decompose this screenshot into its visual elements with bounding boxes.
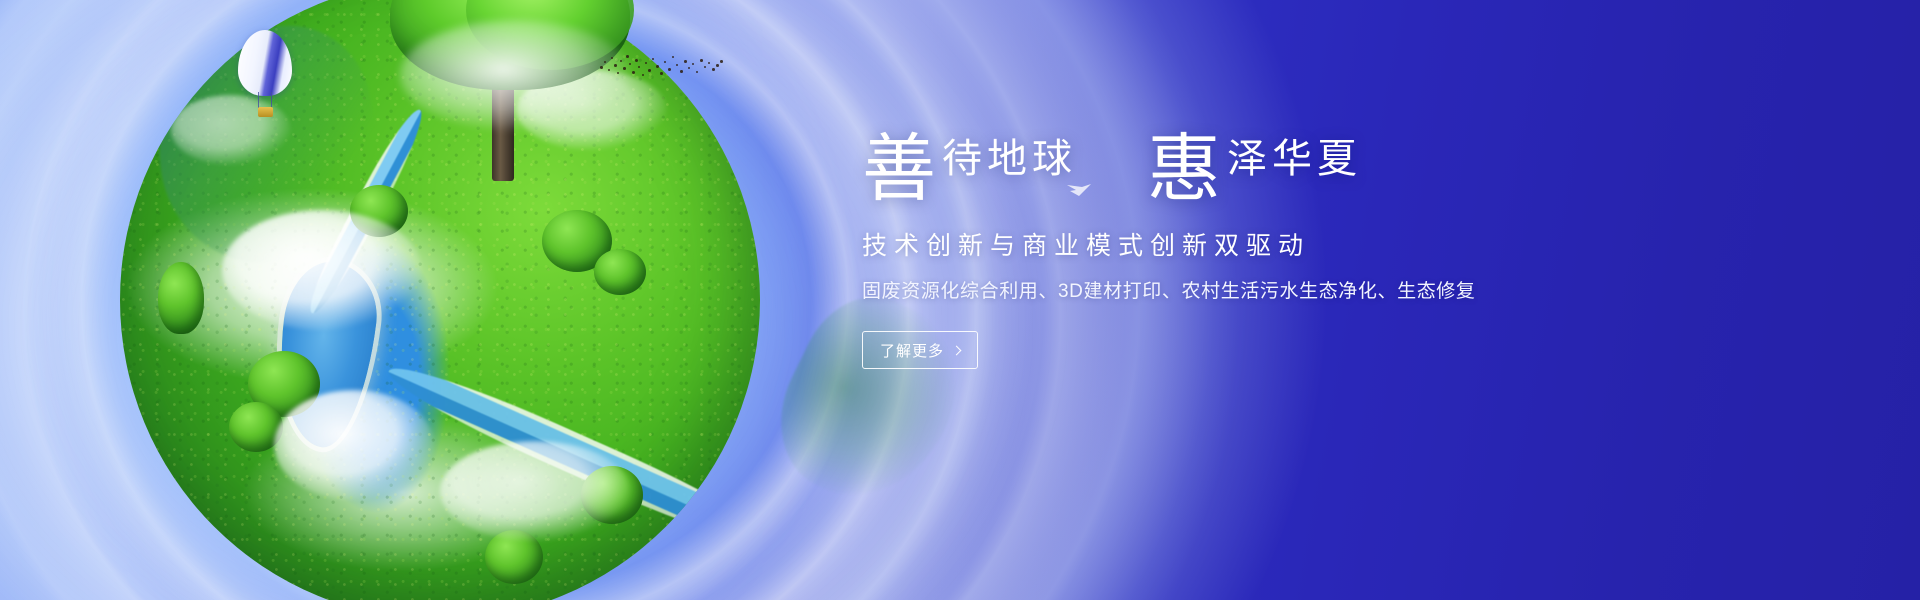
bird-dot (712, 68, 715, 71)
planet-cloud (222, 210, 422, 330)
bird-dot (632, 71, 635, 74)
tree-blob (594, 249, 646, 295)
bird-dot (696, 71, 698, 73)
bird-dot (642, 74, 644, 76)
bird-dot (684, 60, 687, 63)
bird-dot (608, 69, 610, 71)
bird-dot (688, 67, 690, 69)
bird-dot (672, 56, 674, 58)
bird-dot (660, 72, 663, 75)
balloon-basket (258, 107, 273, 117)
learn-more-button[interactable]: 了解更多 (862, 331, 978, 369)
bird-dot (676, 64, 678, 66)
bird-dot (620, 60, 622, 62)
headline-phrase-1: 待地球 (942, 139, 1077, 179)
headline-char-1: 善 (862, 132, 936, 206)
bird-dot (704, 66, 706, 68)
chevron-right-icon (952, 345, 962, 355)
bird-dot (700, 59, 703, 62)
bird-dot (623, 67, 626, 70)
bird-dot (617, 72, 619, 74)
bird-dot (716, 64, 719, 67)
bird-dot (648, 69, 651, 72)
bird-dot (692, 63, 694, 65)
bird-dot (668, 68, 671, 71)
bird-dot (614, 64, 617, 67)
page-title: 善待地球惠泽华夏 (862, 126, 1662, 212)
balloon-lines (258, 92, 272, 108)
bird-dot (680, 70, 683, 73)
bird-dot (635, 59, 638, 62)
bird-dot (645, 62, 647, 64)
bird-dot (611, 57, 613, 59)
hot-air-balloon-icon (238, 30, 292, 122)
bird-flock-icon (598, 52, 728, 88)
bird-dot (720, 60, 723, 63)
bird-dot (652, 58, 654, 60)
top-tree-illustration (380, 0, 640, 180)
bird-dot (604, 61, 606, 63)
tree-blob (158, 262, 204, 334)
planet-cloud (440, 441, 630, 541)
bird-dot (638, 66, 640, 68)
bird-dot (600, 66, 603, 69)
banner-description: 固废资源化综合利用、3D建材打印、农村生活污水生态净化、生态修复 (862, 279, 1662, 305)
bird-dot (629, 63, 631, 65)
headline-char-2: 惠 (1147, 132, 1221, 206)
headline-phrase-2: 泽华夏 (1227, 139, 1362, 179)
planet-cloud (274, 390, 434, 500)
banner-copy-block: 善待地球惠泽华夏 技术创新与商业模式创新双驱动 固废资源化综合利用、3D建材打印… (862, 126, 1662, 369)
bird-dot (664, 61, 666, 63)
bird-dot (708, 62, 710, 64)
learn-more-label: 了解更多 (880, 340, 944, 361)
bird-dot (626, 55, 629, 58)
hero-banner: 善待地球惠泽华夏 技术创新与商业模式创新双驱动 固废资源化综合利用、3D建材打印… (0, 0, 1920, 600)
tree-mist (400, 20, 630, 130)
banner-subtitle: 技术创新与商业模式创新双驱动 (862, 230, 1662, 262)
balloon-envelope (238, 30, 292, 96)
bird-dot (656, 65, 659, 68)
